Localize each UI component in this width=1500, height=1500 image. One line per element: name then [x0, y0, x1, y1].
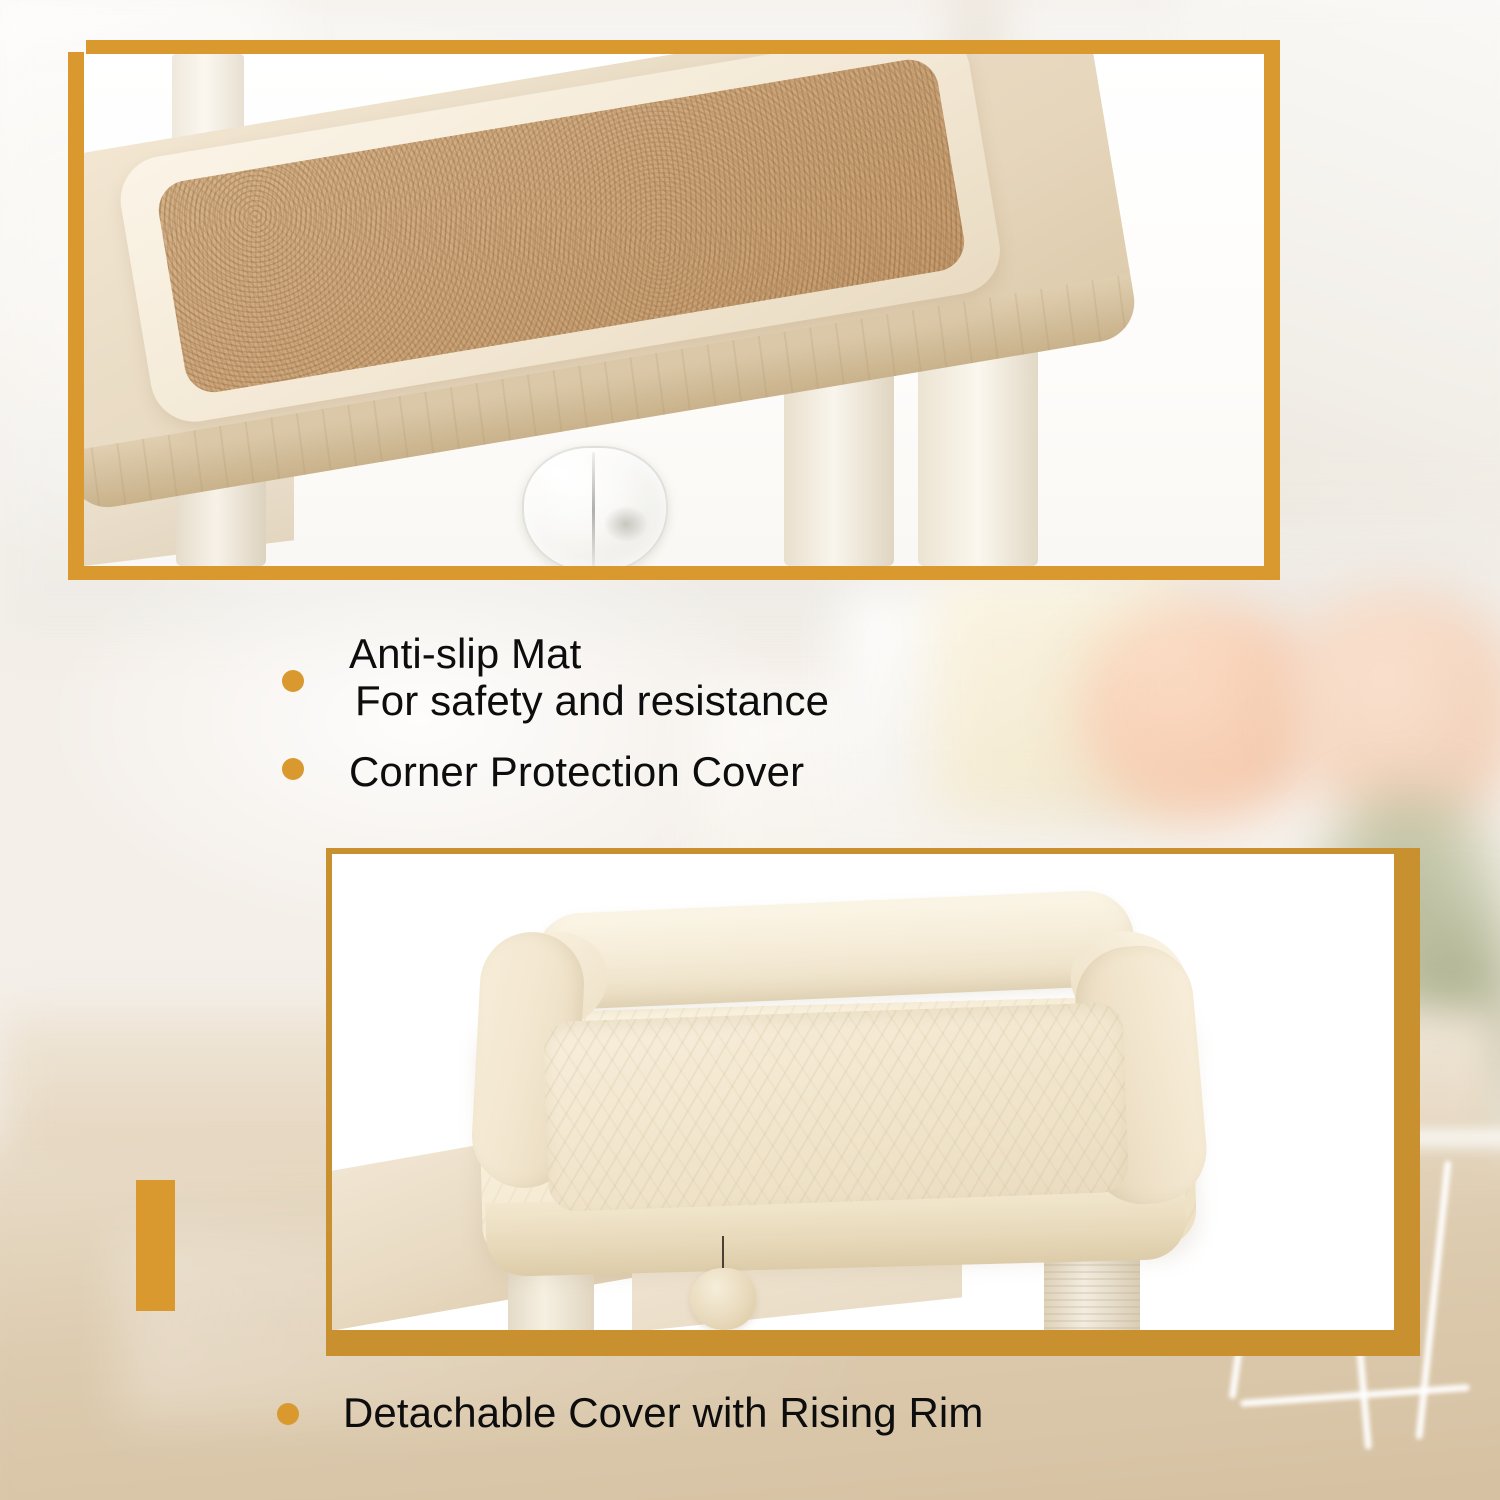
feature-caption-anti-slip-mat: Anti-slip Mat For safety and resistance [349, 630, 829, 724]
feature-caption-corner-protection: Corner Protection Cover [349, 748, 804, 795]
corner-cover-highlight [539, 458, 585, 498]
frame-top-border-left [68, 52, 84, 580]
product-photo-detachable-cover [332, 854, 1394, 1330]
product-photo-anti-slip-mat [84, 54, 1264, 566]
image-frame-bottom [326, 848, 1420, 1356]
bullet-point-icon-2 [282, 758, 304, 780]
bed-seat-surface [543, 1002, 1129, 1212]
pompom-toy-string [722, 1236, 724, 1272]
corner-cover-shadow [604, 506, 648, 542]
feature-subtitle-1: For safety and resistance [355, 677, 829, 724]
frame-top-border-bottom [84, 564, 1280, 580]
cat-bed [442, 874, 1232, 1274]
feature-title-1: Anti-slip Mat [349, 630, 581, 677]
rising-rim-back [532, 889, 1136, 1011]
frame-top-border-top [86, 40, 1280, 55]
frame-bottom-border-bottom [326, 1330, 1420, 1356]
frame-top-border-right [1264, 54, 1280, 568]
orange-accent-bar [136, 1180, 175, 1311]
pompom-toy [690, 1268, 756, 1330]
bullet-point-icon-1 [282, 670, 304, 692]
frame-bottom-border-right [1394, 848, 1420, 1356]
feature-caption-detachable-cover: Detachable Cover with Rising Rim [343, 1389, 983, 1436]
image-frame-top [68, 40, 1280, 580]
corner-cover-seam [592, 452, 595, 566]
bullet-point-icon-3 [277, 1403, 299, 1425]
